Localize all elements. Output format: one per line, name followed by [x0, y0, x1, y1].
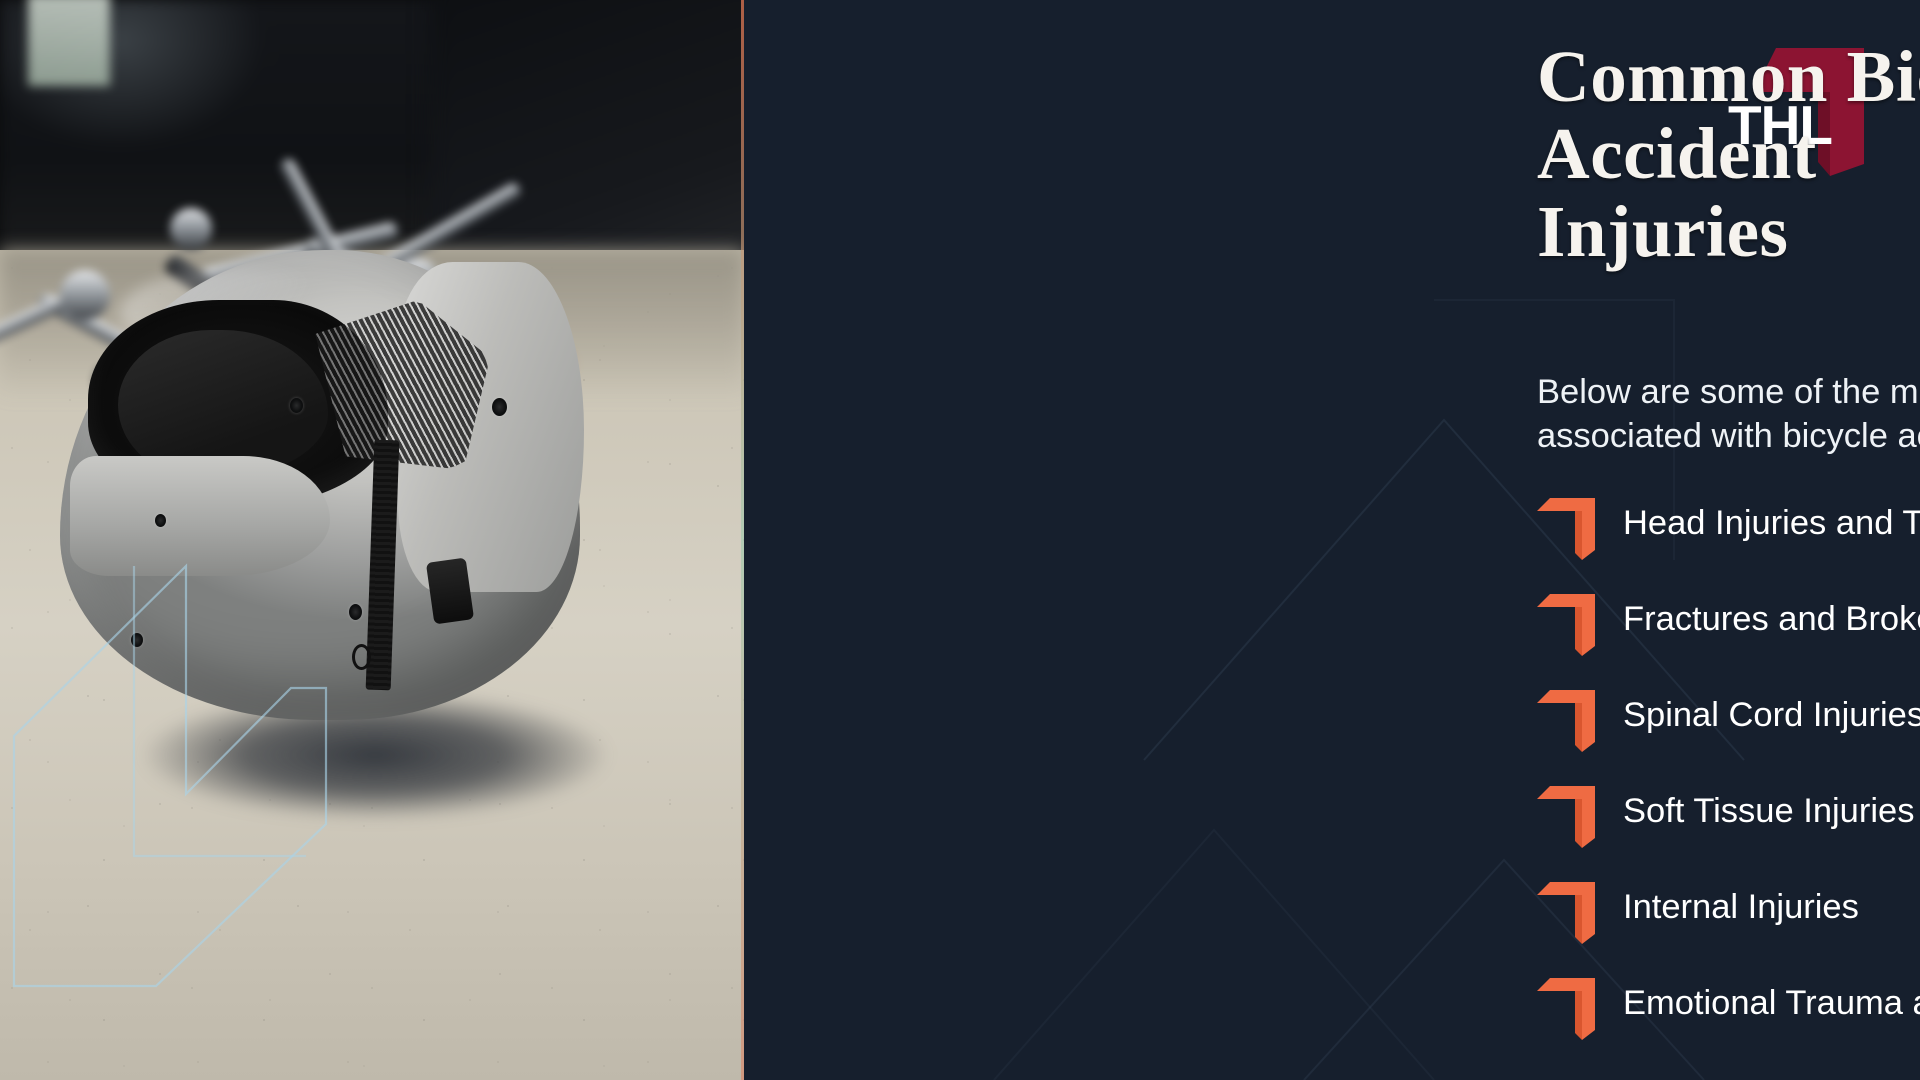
helmet-strap-ring: [352, 644, 371, 670]
list-item[interactable]: Internal Injuries: [1537, 876, 1920, 972]
chevron-arrow-bullet-icon: [1537, 978, 1595, 1040]
list-item-label: Soft Tissue Injuries: [1623, 780, 1914, 829]
list-item-label: Head Injuries and Traumatic Brain Injuri…: [1623, 492, 1920, 541]
helmet-rivet: [131, 633, 143, 647]
list-item-label: Emotional Trauma and PTSD: [1623, 972, 1920, 1021]
helmet-front-lip: [70, 456, 330, 576]
list-item-label: Spinal Cord Injuries: [1623, 684, 1920, 733]
photo-background-sign: [28, 0, 110, 86]
injury-list: Head Injuries and Traumatic Brain Injuri…: [1537, 492, 1920, 1068]
helmet-rivet: [155, 514, 166, 527]
chevron-arrow-bullet-icon: [1537, 498, 1595, 560]
content-panel: THL Common Bicycle Accident Injuries Bel…: [744, 0, 1920, 1080]
list-item[interactable]: Fractures and Broken Bones: [1537, 588, 1920, 684]
helmet-rivet: [492, 398, 507, 416]
helmet-rivet: [290, 398, 303, 413]
infographic-root: THL Common Bicycle Accident Injuries Bel…: [0, 0, 1920, 1080]
accident-photo: [0, 0, 744, 1080]
list-item[interactable]: Head Injuries and Traumatic Brain Injuri…: [1537, 492, 1920, 588]
list-item-label: Fractures and Broken Bones: [1623, 588, 1920, 637]
intro-text: Below are some of the most common injuri…: [1537, 370, 1920, 458]
list-item[interactable]: Emotional Trauma and PTSD: [1537, 972, 1920, 1068]
list-item[interactable]: Soft Tissue Injuries: [1537, 780, 1920, 876]
chevron-arrow-bullet-icon: [1537, 882, 1595, 944]
helmet-strap-buckle: [426, 558, 474, 625]
list-item[interactable]: Spinal Cord Injuries: [1537, 684, 1920, 780]
page-title: Common Bicycle Accident Injuries: [1537, 38, 1920, 270]
chevron-arrow-bullet-icon: [1537, 786, 1595, 848]
chevron-arrow-bullet-icon: [1537, 594, 1595, 656]
photo-scene: [0, 0, 744, 1080]
list-item-label: Internal Injuries: [1623, 876, 1859, 925]
chevron-arrow-bullet-icon: [1537, 690, 1595, 752]
helmet-rivet: [349, 604, 362, 620]
